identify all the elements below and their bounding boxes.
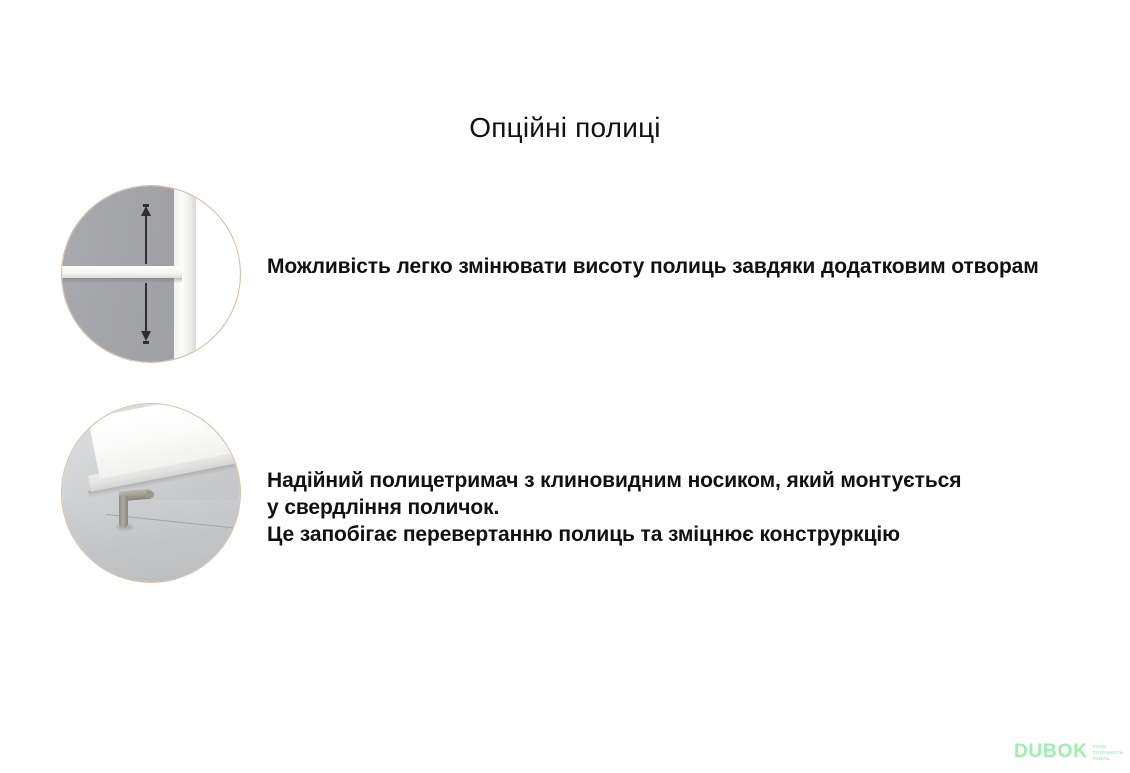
cabinet-lower-panel bbox=[62, 500, 240, 582]
watermark-tagline-line-2: ПОТРІБНІСТЬ bbox=[1093, 750, 1124, 755]
page-title: Опційні полиці bbox=[0, 111, 1130, 145]
watermark-brand-name: DUBOK bbox=[1014, 742, 1088, 762]
photo-inner-2 bbox=[62, 404, 240, 582]
shelf-holder-photo bbox=[62, 404, 240, 582]
feature-2-line-2: у свердління поличок. bbox=[267, 494, 961, 521]
tick-mark-bottom bbox=[143, 341, 149, 344]
brand-watermark: DUBOK РОКІВ ПОТРІБНІСТЬ НАВІТЬ bbox=[1014, 742, 1123, 762]
shelf-pin-wedge-tip bbox=[146, 491, 154, 498]
watermark-tagline-line-3: НАВІТЬ bbox=[1093, 756, 1124, 761]
shelf-height-adjustment-photo bbox=[62, 186, 240, 362]
watermark-tagline: РОКІВ ПОТРІБНІСТЬ НАВІТЬ bbox=[1093, 743, 1124, 761]
arrow-up-icon bbox=[145, 214, 147, 264]
white-shelf-board bbox=[62, 266, 182, 278]
slide-canvas: Опційні полиці Можливість легко змінюват… bbox=[0, 0, 1130, 773]
feature-1-line-1: Можливість легко змінювати висоту полиць… bbox=[267, 253, 1039, 280]
cabinet-outside-white bbox=[196, 186, 240, 362]
feature-2-text: Надійний полицетримач з клиновидним носи… bbox=[267, 467, 961, 548]
shelf-drop-shadow bbox=[62, 278, 182, 283]
feature-1-text: Можливість легко змінювати висоту полиць… bbox=[267, 253, 1039, 280]
photo-inner-1 bbox=[62, 186, 240, 362]
watermark-tagline-line-1: РОКІВ bbox=[1093, 744, 1124, 749]
shelf-pin-leg bbox=[119, 496, 128, 528]
arrow-down-icon bbox=[145, 283, 147, 333]
feature-2-line-3: Це запобігає перевертанню полиць та зміц… bbox=[267, 521, 961, 548]
feature-2-line-1: Надійний полицетримач з клиновидним носи… bbox=[267, 467, 961, 494]
